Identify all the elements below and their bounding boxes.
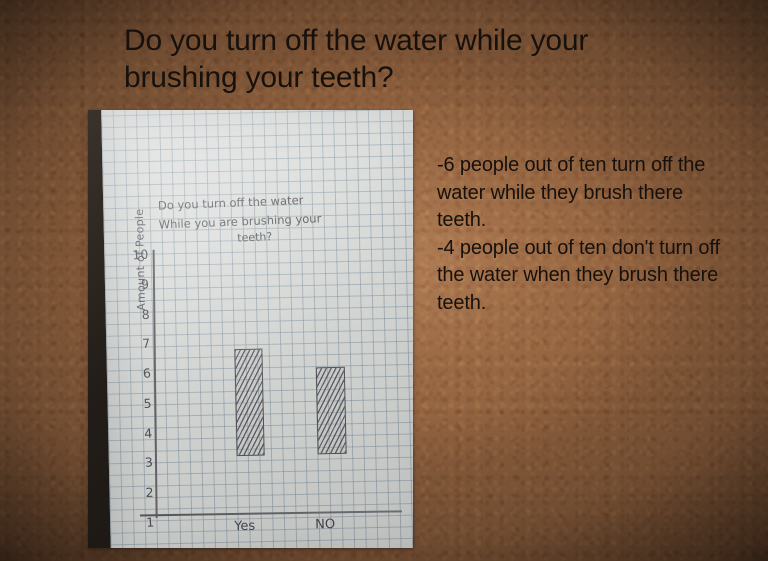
body-text-line-2: -4 people out of ten don't turn off the … <box>437 235 737 318</box>
photo-lighting-overlay <box>101 110 413 548</box>
body-text-line-1: -6 people out of ten turn off the water … <box>437 152 737 235</box>
page-title: Do you turn off the water while your bru… <box>124 22 684 96</box>
handwritten-chart-photo: Do you turn off the water While you are … <box>88 110 413 548</box>
body-text-block: -6 people out of ten turn off the water … <box>437 152 737 317</box>
graph-paper: Do you turn off the water While you are … <box>101 110 413 548</box>
